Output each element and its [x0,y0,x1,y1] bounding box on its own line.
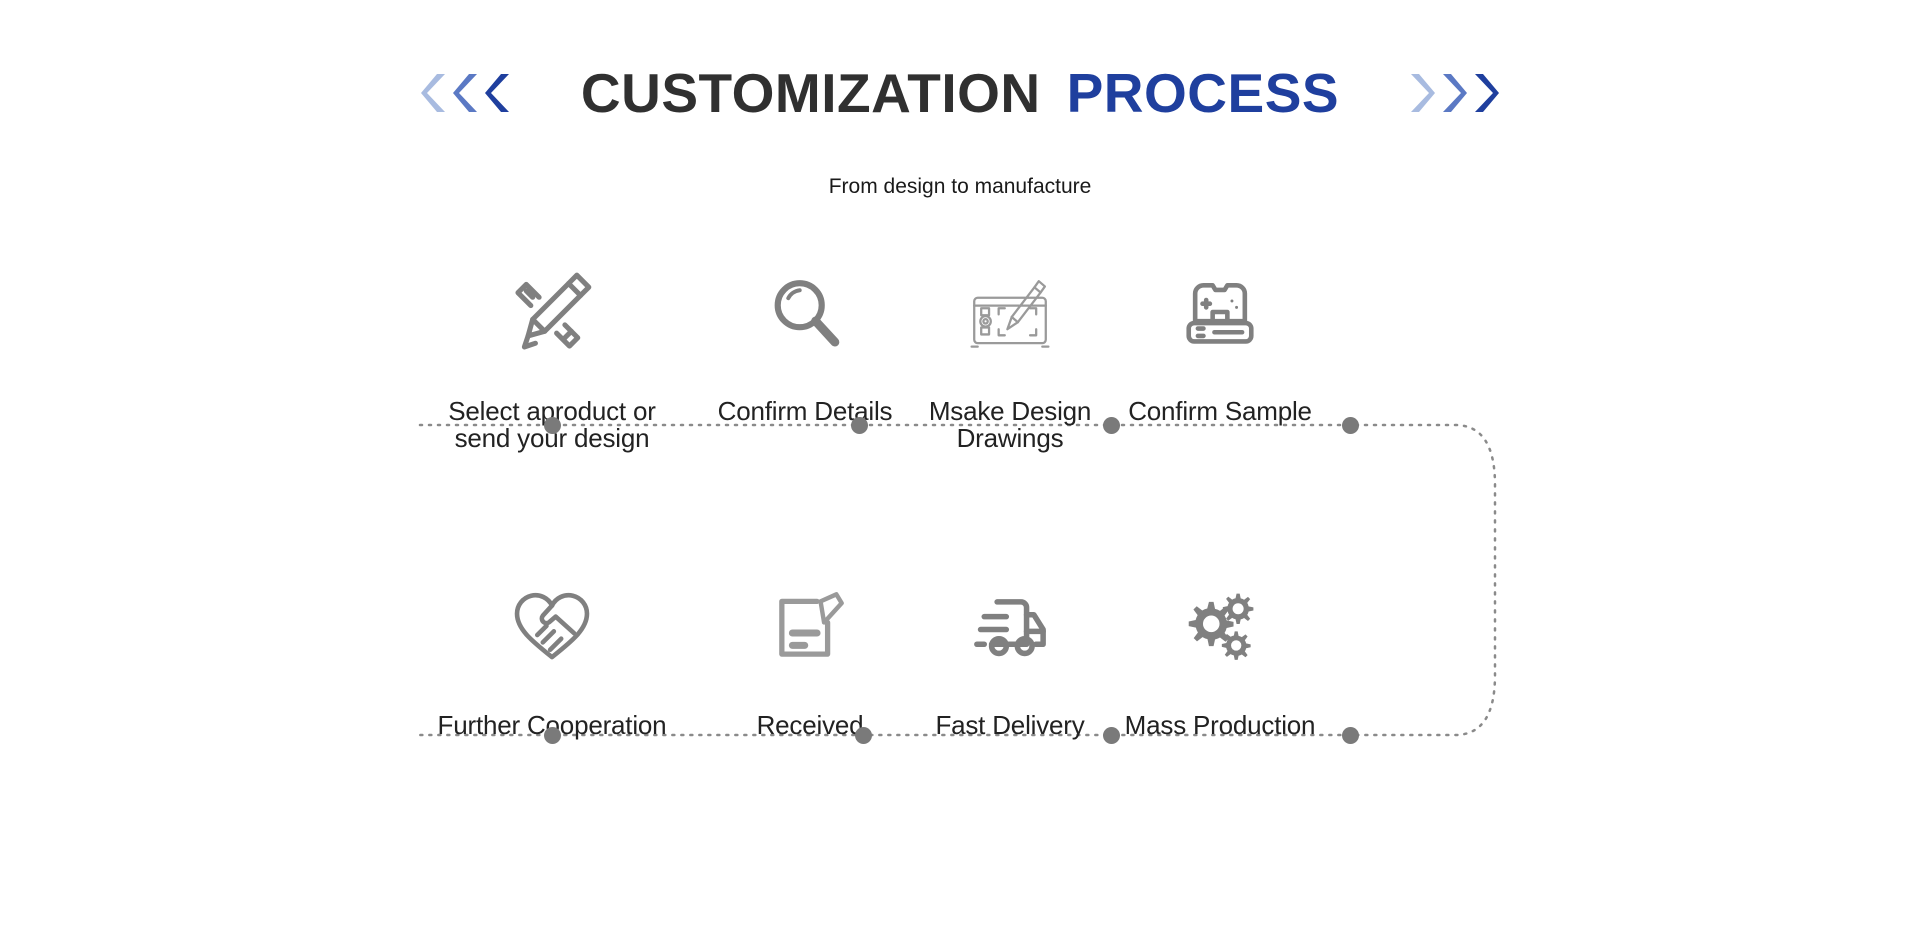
chevron-right-triple-icon [1407,69,1501,117]
flow-node [1103,417,1120,434]
customization-process-infographic: CUSTOMIZATION PROCESS From design to man… [0,0,1920,946]
header: CUSTOMIZATION PROCESS [0,58,1920,128]
step-mass-production[interactable]: Mass Production [1090,562,1350,739]
step-label: Mass Production [1090,696,1350,739]
title-accent: PROCESS [1067,66,1339,121]
step-further-cooperation[interactable]: Further Cooperation [422,562,682,739]
page-title: CUSTOMIZATION PROCESS [581,66,1339,121]
flow-node [851,417,868,434]
gears-icon [1090,562,1350,670]
step-confirm-sample[interactable]: Confirm Sample [1090,250,1350,425]
flow-node [1103,727,1120,744]
game-console-sample-icon [1090,250,1350,358]
title-main: CUSTOMIZATION [581,66,1041,121]
flow-node [1342,417,1359,434]
subtitle: From design to manufacture [0,175,1920,199]
flow-node [855,727,872,744]
handshake-heart-icon [422,562,682,670]
flow-node [544,417,561,434]
pencil-ruler-icon [422,250,682,358]
chevron-left-triple-icon [419,69,513,117]
flow-node [1342,727,1359,744]
step-label: Confirm Sample [1090,384,1350,425]
process-flow: Select aproduct or send your design Conf… [0,250,1920,900]
flow-node [544,727,561,744]
